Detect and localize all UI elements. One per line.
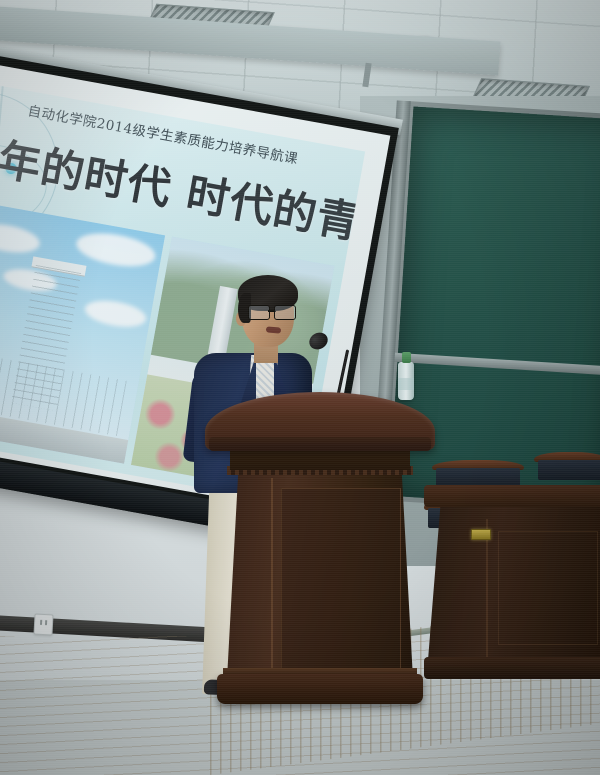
chair-backrest [538, 460, 600, 480]
lectern-base [424, 657, 600, 679]
lecture-hall-photo: 自动化学院2014级学生素质能力培养导航课 青年的时代 时代的青年 [0, 0, 600, 775]
lectern-front-panel [281, 488, 401, 670]
eyeglasses-icon [248, 305, 296, 319]
lectern-desktop [424, 485, 600, 507]
lectern-nameplate-icon [471, 529, 491, 540]
water-bottle-label [398, 378, 414, 390]
wall-outlet-icon [33, 614, 53, 636]
secondary-lectern [424, 485, 600, 695]
lectern-desktop-edge [209, 437, 431, 451]
lectern-front-panel [498, 531, 598, 645]
lectern-base [217, 674, 423, 704]
speaker-mouth [266, 326, 281, 333]
chair [534, 452, 600, 482]
water-bottle-cap [402, 352, 411, 363]
lectern-corner-edge [271, 478, 273, 676]
lectern-corner-edge [486, 519, 488, 663]
main-lectern [205, 392, 435, 732]
lectern-neck [230, 448, 410, 470]
